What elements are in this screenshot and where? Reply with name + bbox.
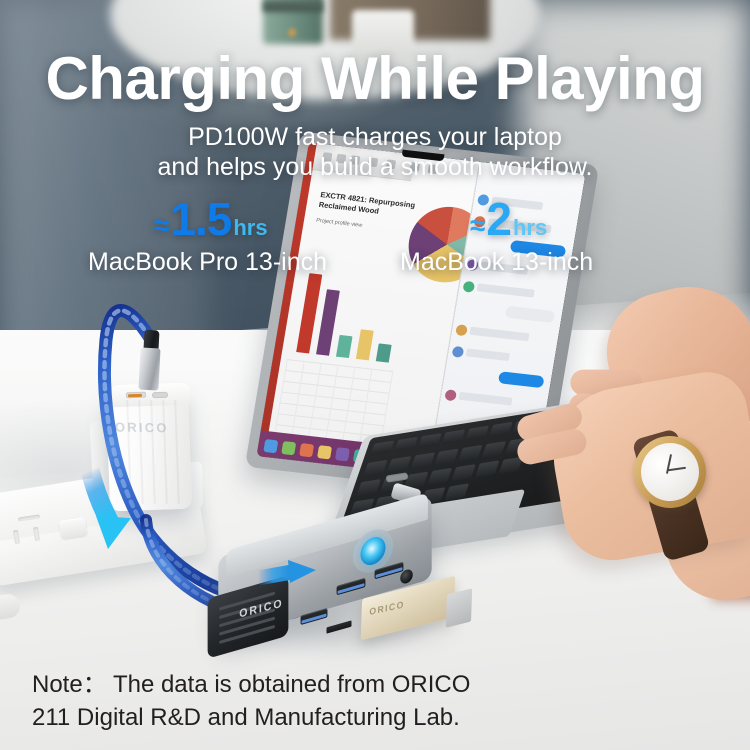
arrow-to-outlet (90, 470, 131, 549)
footnote: Note： The data is obtained from ORICO 21… (32, 668, 652, 734)
product-marketing-image: ORICO (0, 0, 750, 750)
charge-time-value: 2 (486, 196, 511, 242)
subtitle: PD100W fast charges your laptop and help… (0, 122, 750, 182)
charge-time-unit: hrs (513, 217, 547, 239)
footnote-label: Note： (32, 671, 107, 698)
direction-arrows (0, 0, 750, 750)
approx-symbol: ≈ (154, 212, 169, 240)
arrow-to-hub-port (258, 560, 316, 583)
subtitle-line-1: PD100W fast charges your laptop (0, 122, 750, 152)
charge-time-value: 1.5 (170, 196, 231, 242)
device-label-macbook-pro: MacBook Pro 13-inch (88, 248, 327, 277)
charge-time-unit: hrs (233, 217, 267, 239)
footnote-line-1: The data is obtained from ORICO (113, 671, 471, 698)
metric-macbook-pro: ≈ 1.5 hrs (154, 196, 268, 242)
device-label-macbook: MacBook 13-inch (400, 248, 593, 277)
metric-macbook: ≈ 2 hrs (470, 196, 547, 242)
footnote-line-2: 211 Digital R&D and Manufacturing Lab. (32, 704, 460, 731)
scene-photo: ORICO (0, 0, 750, 750)
page-title: Charging While Playing (0, 48, 750, 110)
subtitle-line-2: and helps you build a smooth workflow. (0, 152, 750, 182)
approx-symbol: ≈ (470, 212, 485, 240)
